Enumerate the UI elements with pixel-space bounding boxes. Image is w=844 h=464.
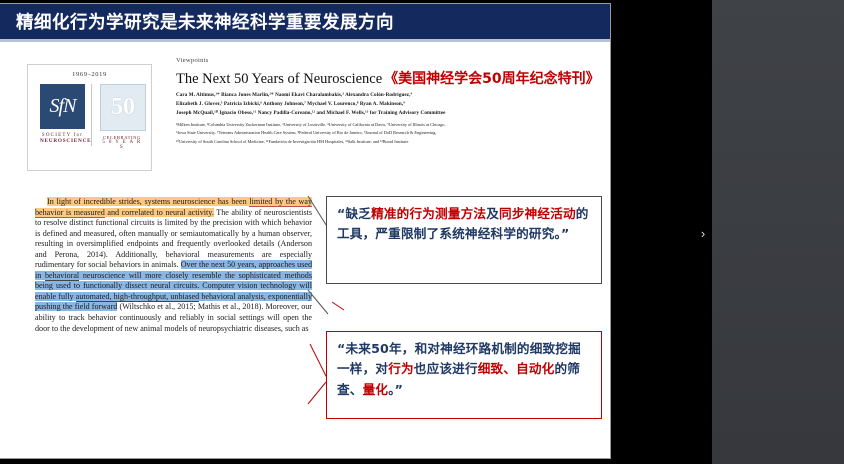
callout1-seg3: 及: [486, 206, 499, 221]
sfn-anniversary-years: 1969–2019: [28, 71, 151, 78]
title-underline: [0, 39, 610, 42]
paper-body-paragraph: In light of incredible strides, systems …: [35, 197, 312, 334]
paper-title-annotation-cn: 《美国神经学会50周年纪念特刊》: [384, 68, 599, 88]
sfn-left-lockup: SfN SOCIETY for NEUROSCIENCE: [40, 84, 85, 144]
sfn-logo-divider: [91, 84, 92, 146]
callout-box-2: “未来50年，和对神经环路机制的细致挖掘一样，对行为也应该进行细致、自动化的筛查…: [326, 331, 602, 419]
callout2-seg3: 也应该进行: [414, 361, 478, 376]
sfn-years-text: 1969–2019: [72, 71, 107, 78]
paper-title-row: The Next 50 Years of Neuroscience 《美国神经学…: [176, 68, 596, 88]
body-highlight-yellow-b: and correlated to neural activity.: [105, 208, 214, 217]
callout2-seg4-red: 细致、自动化: [478, 361, 555, 376]
callout1-seg4-red: 同步神经活动: [499, 206, 576, 221]
paper-authors: Cara M. Altimus,¹* Bianca Jones Marlin,²…: [176, 91, 596, 118]
authors-line-1: Cara M. Altimus,¹* Bianca Jones Marlin,²…: [176, 91, 596, 100]
callout1-seg1: “缺乏: [337, 206, 371, 221]
callout2-seg7: 。”: [388, 382, 403, 397]
callout2-seg2-red: 行为: [388, 361, 414, 376]
presentation-stage: 精细化行为学研究是未来神经科学重要发展方向 1969–2019 SfN SOCI…: [0, 0, 712, 464]
body-highlight-blue-underlined-2: automated, high-throughput, unbiased: [76, 292, 199, 302]
sfn-right-lockup: 50 CELEBRATING 5 0 Y E A R S: [100, 84, 144, 150]
participant-panel: 讲者: [712, 0, 844, 464]
meeting-screen: 精细化行为学研究是未来神经科学重要发展方向 1969–2019 SfN SOCI…: [0, 0, 844, 464]
callout-box-1: “缺乏精准的行为测量方法及同步神经活动的工具，严重限制了系统神经科学的研究。”: [326, 196, 602, 284]
authors-line-2: Elizabeth J. Glover,⁵ Patricia Izbicki,⁶…: [176, 100, 596, 109]
paper-section-label: Viewpoints: [176, 57, 209, 64]
paper-header: 1969–2019 SfN SOCIETY for NEUROSCIENCE 5…: [0, 44, 610, 179]
slide-canvas: 精细化行为学研究是未来神经科学重要发展方向 1969–2019 SfN SOCI…: [0, 4, 610, 458]
callout1-seg2-red: 精准的行为测量方法: [371, 206, 486, 221]
sfn-fifty-years-label: 5 0 Y E A R S: [100, 140, 144, 150]
slide-title: 精细化行为学研究是未来神经科学重要发展方向: [0, 4, 610, 39]
affiliation-line-2: ⁶Iowa State University, ⁷Veterans Admini…: [176, 129, 596, 137]
body-highlight-yellow-a: In light of incredible strides, systems …: [47, 197, 249, 206]
sfn-society-line2: NEUROSCIENCE: [40, 138, 85, 144]
affiliation-line-1: ¹Milken Institute, ²Columbia University …: [176, 121, 596, 129]
authors-line-3: Joseph McQuail,¹⁰ Ignacio Obeso,¹¹ Nancy…: [176, 109, 596, 118]
paper-body-column: In light of incredible strides, systems …: [35, 197, 312, 334]
callout2-seg6-red: 量化: [363, 382, 389, 397]
sfn-logo: 1969–2019 SfN SOCIETY for NEUROSCIENCE 5…: [27, 64, 152, 171]
sfn-fifty-badge: 50: [100, 84, 146, 131]
sfn-monogram: SfN: [40, 84, 85, 129]
affiliation-line-3: ¹⁰University of South Carolina School of…: [176, 138, 596, 146]
body-highlight-blue-underlined-1: behavioral: [45, 271, 79, 281]
chevron-right-icon[interactable]: ›: [696, 224, 710, 242]
paper-affiliations: ¹Milken Institute, ²Columbia University …: [176, 121, 596, 146]
paper-title: The Next 50 Years of Neuroscience: [176, 71, 382, 88]
